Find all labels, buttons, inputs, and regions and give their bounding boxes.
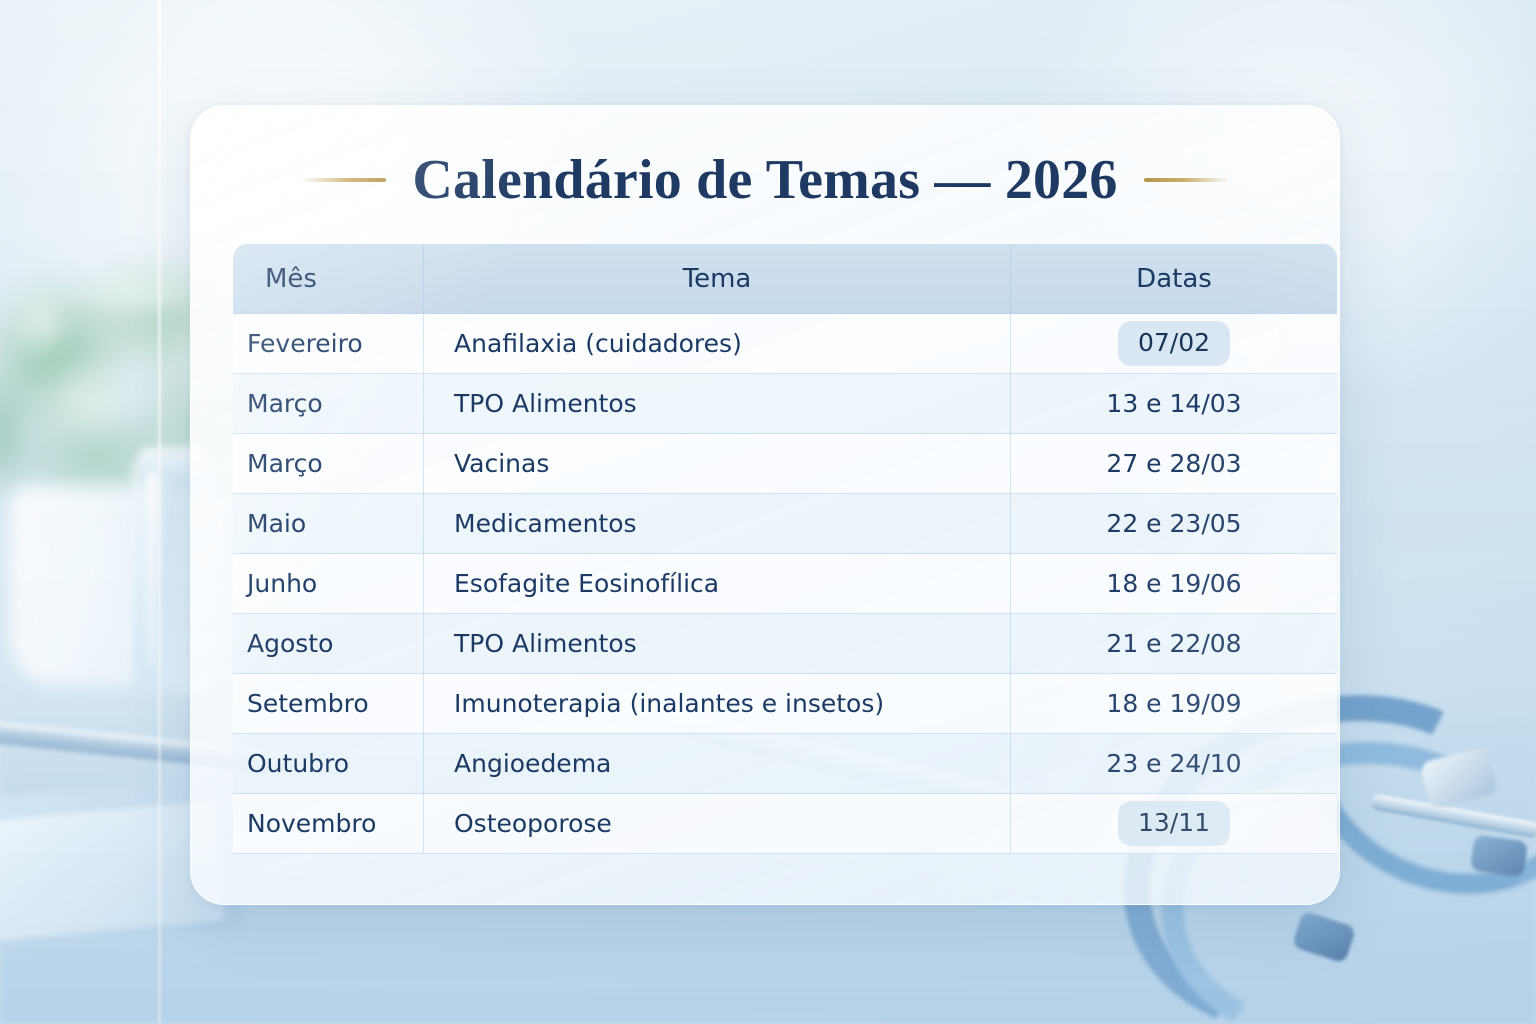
table-row: SetembroImunoterapia (inalantes e inseto… xyxy=(233,674,1337,734)
table-header: Mês Tema Datas xyxy=(233,244,1337,314)
table-row: FevereiroAnafilaxia (cuidadores)07/02 xyxy=(233,314,1337,374)
cell-mes: Agosto xyxy=(233,614,423,674)
cell-tema: Esofagite Eosinofílica xyxy=(423,554,1010,614)
cell-datas: 07/02 xyxy=(1010,314,1337,374)
cell-tema: Imunoterapia (inalantes e insetos) xyxy=(423,674,1010,734)
cell-tema: Angioedema xyxy=(423,734,1010,794)
date-badge: 13/11 xyxy=(1118,801,1230,846)
date-badge: 07/02 xyxy=(1118,321,1230,366)
cell-tema: Osteoporose xyxy=(423,794,1010,854)
column-header-datas: Datas xyxy=(1010,244,1337,314)
column-header-mes: Mês xyxy=(233,244,423,314)
cell-datas: 23 e 24/10 xyxy=(1010,734,1337,794)
table-row: OutubroAngioedema23 e 24/10 xyxy=(233,734,1337,794)
cell-datas: 13 e 14/03 xyxy=(1010,374,1337,434)
table-body: FevereiroAnafilaxia (cuidadores)07/02Mar… xyxy=(233,314,1337,854)
cell-tema: Medicamentos xyxy=(423,494,1010,554)
title-rule-right-icon xyxy=(1144,178,1230,182)
cell-mes: Outubro xyxy=(233,734,423,794)
cell-datas: 13/11 xyxy=(1010,794,1337,854)
cell-mes: Junho xyxy=(233,554,423,614)
cell-tema: TPO Alimentos xyxy=(423,614,1010,674)
cell-tema: Anafilaxia (cuidadores) xyxy=(423,314,1010,374)
cell-tema: TPO Alimentos xyxy=(423,374,1010,434)
calendar-card: Calendário de Temas — 2026 Mês Tema Data… xyxy=(190,105,1340,905)
cell-mes: Fevereiro xyxy=(233,314,423,374)
title-rule-left-icon xyxy=(300,178,386,182)
glass-panel-edge xyxy=(158,0,161,1024)
table-row: MaioMedicamentos22 e 23/05 xyxy=(233,494,1337,554)
cell-mes: Setembro xyxy=(233,674,423,734)
column-header-tema: Tema xyxy=(423,244,1010,314)
table-header-row: Mês Tema Datas xyxy=(233,244,1337,314)
cell-mes: Março xyxy=(233,374,423,434)
table-row: JunhoEsofagite Eosinofílica18 e 19/06 xyxy=(233,554,1337,614)
cell-datas: 18 e 19/06 xyxy=(1010,554,1337,614)
title-block: Calendário de Temas — 2026 xyxy=(191,148,1339,212)
cell-datas: 27 e 28/03 xyxy=(1010,434,1337,494)
cell-tema: Vacinas xyxy=(423,434,1010,494)
table-row: MarçoTPO Alimentos13 e 14/03 xyxy=(233,374,1337,434)
cell-mes: Novembro xyxy=(233,794,423,854)
table-row: MarçoVacinas27 e 28/03 xyxy=(233,434,1337,494)
cell-mes: Maio xyxy=(233,494,423,554)
cell-datas: 21 e 22/08 xyxy=(1010,614,1337,674)
page-title: Calendário de Temas — 2026 xyxy=(412,148,1117,212)
cell-datas: 18 e 19/09 xyxy=(1010,674,1337,734)
cell-datas: 22 e 23/05 xyxy=(1010,494,1337,554)
schedule-table: Mês Tema Datas FevereiroAnafilaxia (cuid… xyxy=(233,244,1337,854)
table-row: NovembroOsteoporose13/11 xyxy=(233,794,1337,854)
table-row: AgostoTPO Alimentos21 e 22/08 xyxy=(233,614,1337,674)
cell-mes: Março xyxy=(233,434,423,494)
